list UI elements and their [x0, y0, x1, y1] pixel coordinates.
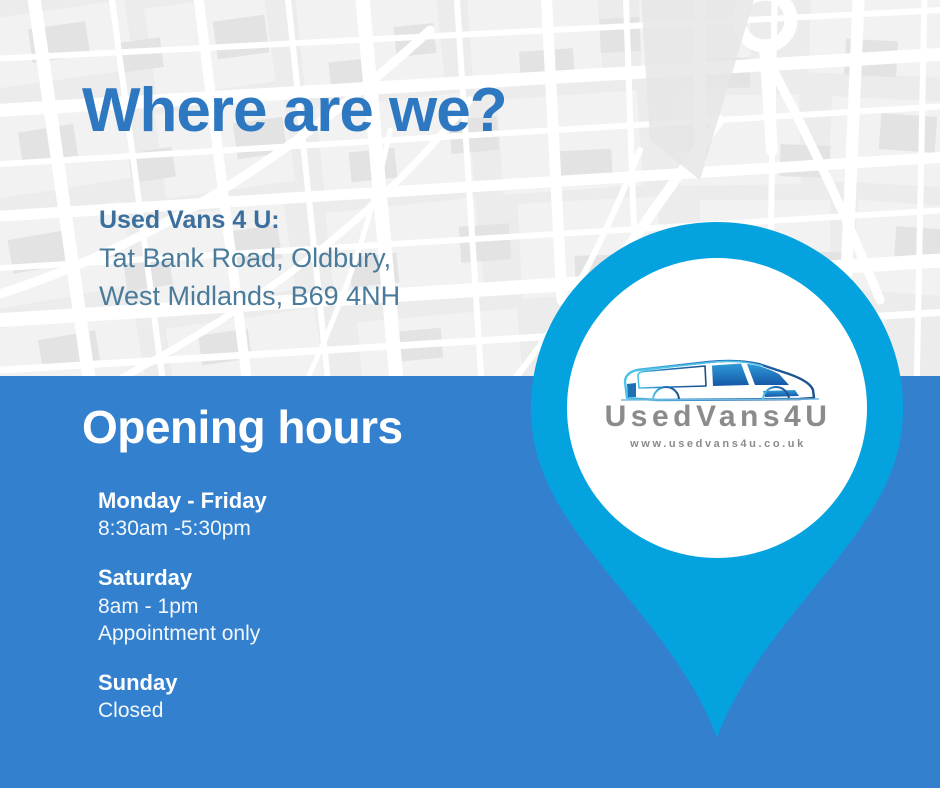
logo-url: www.usedvans4u.co.uk	[588, 439, 848, 450]
hours-day-label: Monday - Friday	[98, 487, 498, 515]
hours-time-value: Closed	[98, 697, 498, 724]
hours-group: Sunday Closed	[98, 669, 498, 724]
logo-wordmark: UsedVans4U	[588, 402, 848, 432]
business-name: Used Vans 4 U:	[99, 203, 400, 239]
hours-time-value: 8am - 1pm	[98, 593, 498, 620]
hours-time-value: 8:30am -5:30pm	[98, 515, 498, 542]
address-line-1: Tat Bank Road, Oldbury,	[99, 239, 400, 277]
opening-hours-title: Opening hours	[82, 404, 403, 450]
hours-day-label: Saturday	[98, 564, 498, 592]
address-line-2: West Midlands, B69 4NH	[99, 277, 400, 315]
opening-hours-list: Monday - Friday 8:30am -5:30pm Saturday …	[98, 487, 498, 725]
address-block: Used Vans 4 U: Tat Bank Road, Oldbury, W…	[99, 203, 400, 315]
hours-group: Monday - Friday 8:30am -5:30pm	[98, 487, 498, 542]
map-pin-icon	[531, 222, 903, 742]
poster-canvas: Where are we? Used Vans 4 U: Tat Bank Ro…	[0, 0, 940, 788]
logo: UsedVans4U www.usedvans4u.co.uk	[588, 352, 848, 464]
hours-day-label: Sunday	[98, 669, 498, 697]
page-title: Where are we?	[82, 78, 507, 143]
hours-time-note: Appointment only	[98, 620, 498, 647]
hours-group: Saturday 8am - 1pm Appointment only	[98, 564, 498, 647]
